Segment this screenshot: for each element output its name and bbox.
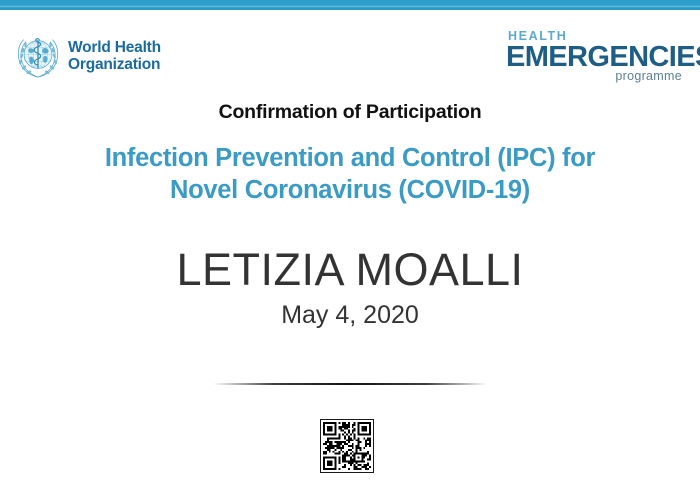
who-wordmark-line2: Organization xyxy=(68,56,160,73)
certificate-body: Confirmation of Participation Infection … xyxy=(0,100,700,330)
who-logo: World HealthOrganization xyxy=(14,32,161,80)
section-divider xyxy=(213,383,487,385)
top-accent-bar xyxy=(0,0,700,10)
certificate-page: World HealthOrganization HEALTH EMERGENC… xyxy=(0,0,700,500)
qr-code[interactable] xyxy=(320,419,374,473)
course-title-line-2: Novel Coronavirus (COVID-19) xyxy=(0,174,700,206)
participant-name: LETIZIA MOALLI xyxy=(0,244,700,296)
course-title: Infection Prevention and Control (IPC) f… xyxy=(0,142,700,206)
health-emergencies-logo: HEALTH EMERGENCIES programme xyxy=(506,30,686,83)
confirmation-subject-line: Confirmation of Participation xyxy=(0,100,700,124)
course-title-line-1: Infection Prevention and Control (IPC) f… xyxy=(0,142,700,174)
who-emblem-icon xyxy=(14,32,62,80)
who-wordmark-line1: World Health xyxy=(68,39,161,56)
who-wordmark: World HealthOrganization xyxy=(68,39,161,73)
issue-date: May 4, 2020 xyxy=(0,300,700,330)
he-logo-emergencies-word: EMERGENCIES xyxy=(506,42,686,72)
qr-code-canvas xyxy=(323,422,371,470)
certificate-header: World HealthOrganization HEALTH EMERGENC… xyxy=(0,22,700,96)
